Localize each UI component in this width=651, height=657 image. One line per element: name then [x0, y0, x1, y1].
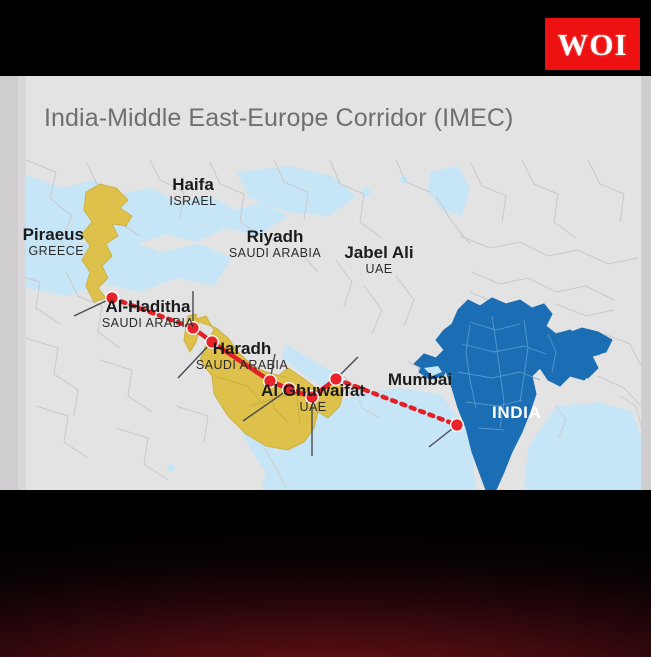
map-label-jabel-ali-city: Jabel Ali	[318, 244, 440, 262]
map-label-jabel-ali: Jabel Ali UAE	[318, 244, 440, 277]
screenshot-root: WOI	[0, 0, 651, 657]
map-label-piraeus: Piraeus GREECE	[0, 226, 84, 259]
map-label-jabel-ali-country: UAE	[318, 262, 440, 278]
map-label-piraeus-city: Piraeus	[0, 226, 84, 244]
map-label-al-ghuwaifat-country: UAE	[236, 400, 390, 416]
map-label-india: INDIA	[492, 403, 541, 423]
map-label-haifa: Haifa ISRAEL	[143, 176, 243, 209]
caption-area: IMEC promises faster India-Europe trade …	[0, 490, 651, 657]
map-label-haradh-city: Haradh	[166, 340, 318, 358]
map-label-haradh: Haradh SAUDI ARABIA	[166, 340, 318, 373]
map-left-edge-band	[0, 76, 18, 490]
woi-logo-text: WOI	[557, 29, 627, 60]
imec-map-graphic: India-Middle East-Europe Corridor (IMEC)…	[0, 76, 651, 490]
map-vector-artwork	[0, 76, 651, 490]
top-black-bar: WOI	[0, 0, 651, 76]
map-label-al-haditha-city: Al-Haditha	[72, 298, 224, 316]
map-label-mumbai: Mumbai	[359, 371, 481, 389]
map-left-edge-band-2	[18, 76, 26, 490]
map-label-al-haditha: Al-Haditha SAUDI ARABIA	[72, 298, 224, 331]
map-label-haifa-city: Haifa	[143, 176, 243, 194]
map-label-mumbai-city: Mumbai	[359, 371, 481, 389]
map-label-haifa-country: ISRAEL	[143, 194, 243, 210]
map-label-haradh-country: SAUDI ARABIA	[166, 358, 318, 374]
map-label-al-haditha-country: SAUDI ARABIA	[72, 316, 224, 332]
woi-logo: WOI	[545, 18, 640, 70]
map-right-edge-band	[641, 76, 651, 490]
map-title: India-Middle East-Europe Corridor (IMEC)	[44, 104, 513, 133]
map-label-piraeus-country: GREECE	[0, 244, 84, 260]
